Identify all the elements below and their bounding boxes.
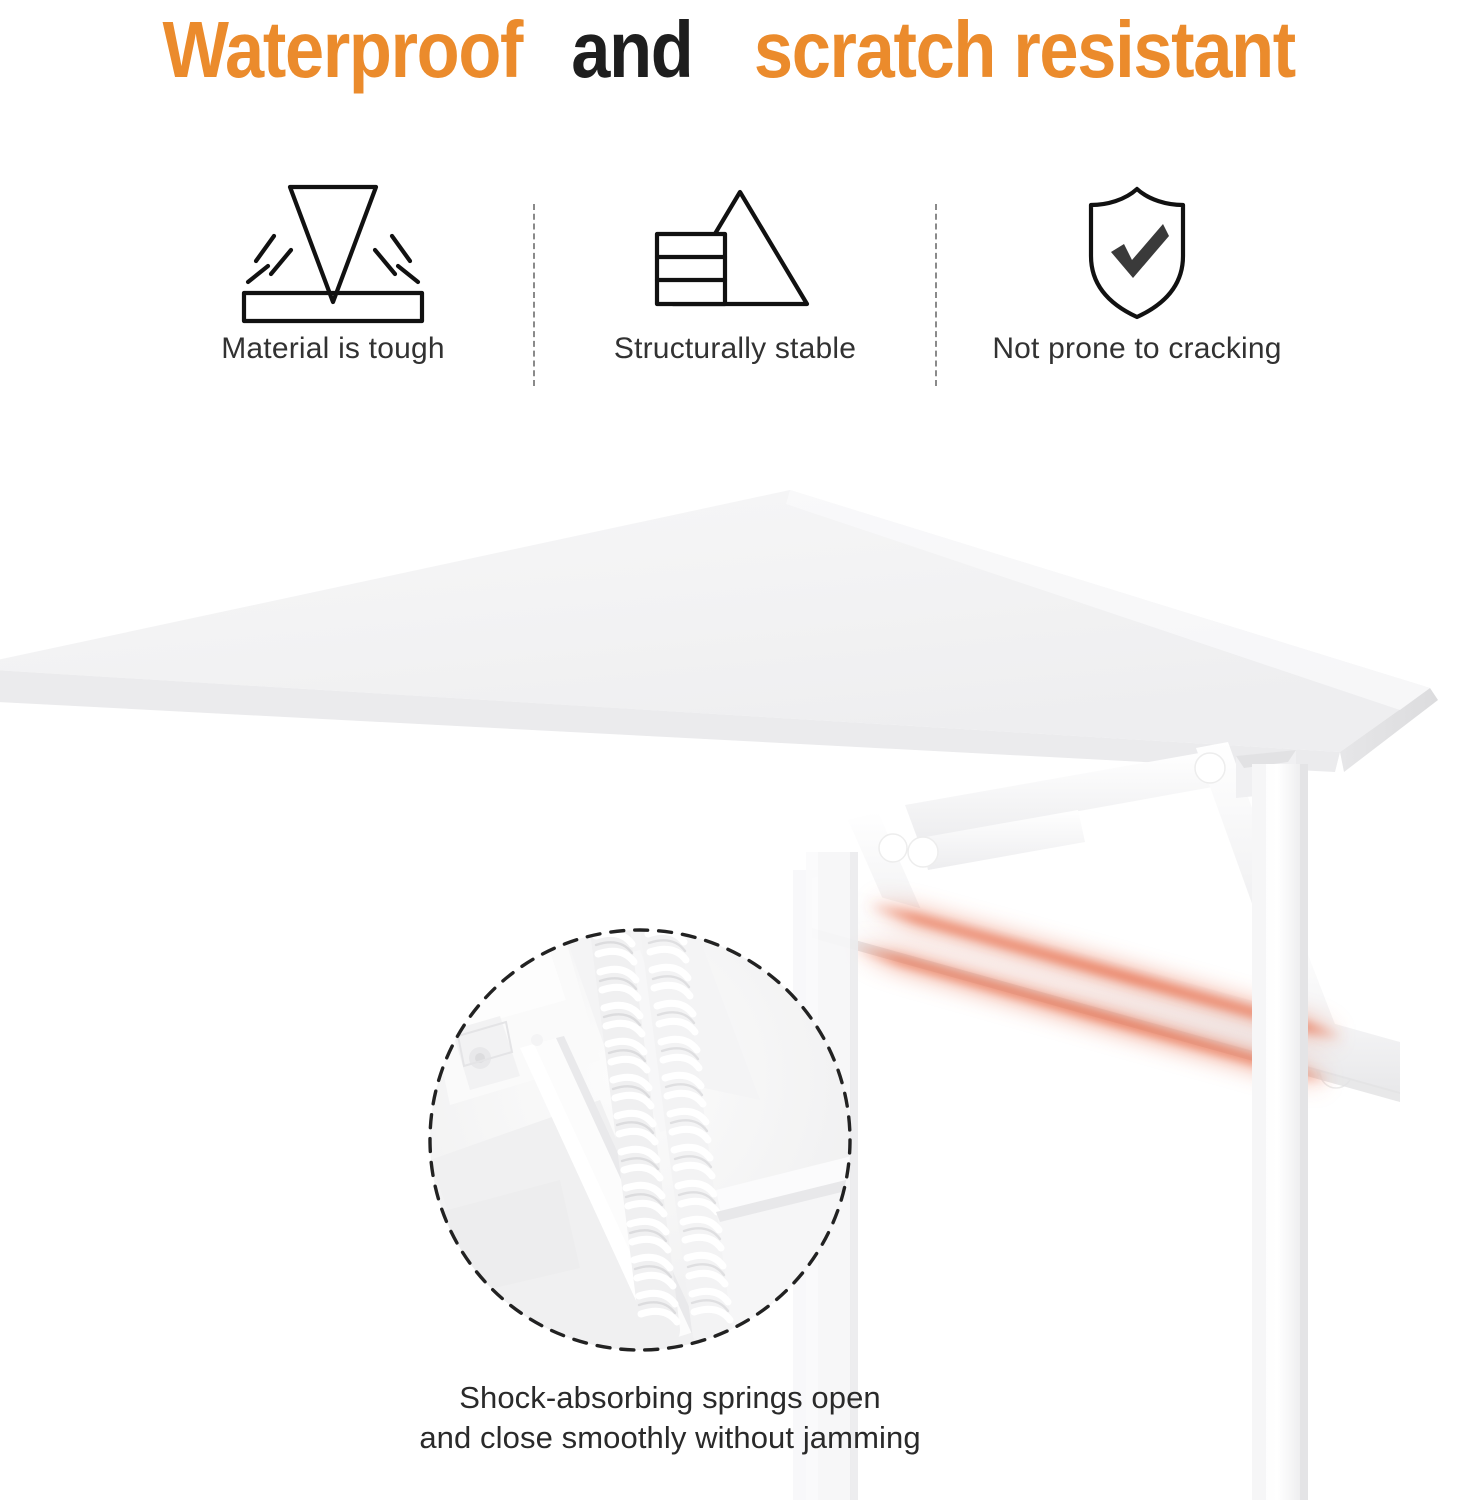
- feature-label-structurally-stable: Structurally stable: [614, 332, 856, 366]
- feature-item-material-is-tough: Material is tough: [133, 178, 533, 366]
- page-title: Waterproof and scratch resistant: [0, 0, 1470, 100]
- impact-wedge-on-block-icon: [228, 178, 438, 326]
- feature-item-structurally-stable: Structurally stable: [535, 178, 935, 366]
- feature-item-not-prone-to-cracking: Not prone to cracking: [937, 178, 1337, 366]
- headline-part-and: and: [571, 10, 692, 90]
- shield-check-icon: [1057, 178, 1217, 326]
- product-feature-page: Waterproof and scratch resistant: [0, 0, 1470, 1500]
- feature-highlights-row: Material is tough Structurally stable: [0, 178, 1470, 390]
- desk-tabletop: [0, 490, 1438, 772]
- headline-part-scratch-resistant: scratch resistant: [754, 10, 1295, 90]
- product-photo: [0, 400, 1470, 1500]
- pyramid-with-stacked-blocks-icon: [635, 178, 835, 326]
- headline-part-waterproof: Waterproof: [163, 10, 523, 90]
- feature-label-material-is-tough: Material is tough: [221, 332, 445, 366]
- feature-label-not-prone-to-cracking: Not prone to cracking: [992, 332, 1281, 366]
